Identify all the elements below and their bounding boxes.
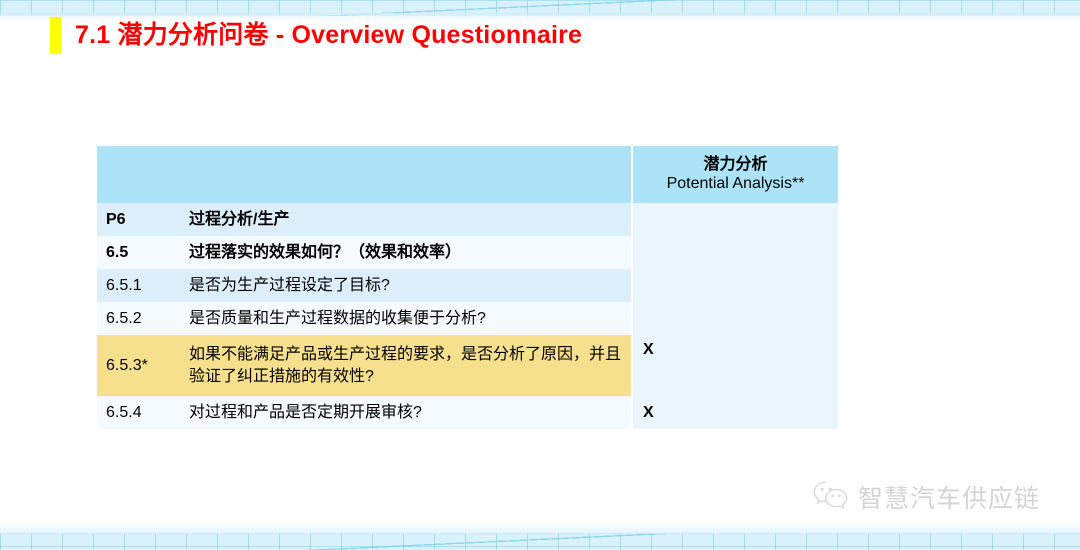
table-header: 潜力分析 Potential Analysis**: [97, 146, 838, 203]
row-potential-analysis: X: [632, 335, 838, 396]
table-row: 6.5.2 是否质量和生产过程数据的收集便于分析?: [97, 302, 838, 335]
header-text-blank: [180, 146, 632, 203]
row-question: 如果不能满足产品或生产过程的要求，是否分析了原因，并且验证了纠正措施的有效性?: [180, 335, 632, 396]
row-id: 6.5.4: [97, 396, 180, 429]
row-potential-analysis: [632, 203, 838, 236]
header-potential-analysis-cn: 潜力分析: [641, 156, 830, 174]
table-row: 6.5 过程落实的效果如何？（效果和效率）: [97, 236, 838, 269]
table-header-row: 潜力分析 Potential Analysis**: [97, 146, 838, 203]
header-id-blank: [97, 146, 180, 203]
top-grid-band: [0, 0, 1080, 16]
watermark-label: 智慧汽车供应链: [858, 486, 1040, 511]
table-row-highlighted: 6.5.3* 如果不能满足产品或生产过程的要求，是否分析了原因，并且验证了纠正措…: [97, 335, 838, 396]
table-row: P6 过程分析/生产: [97, 203, 838, 236]
row-potential-analysis: [632, 236, 838, 269]
header-potential-analysis-en: Potential Analysis**: [641, 174, 830, 193]
row-id: P6: [97, 203, 180, 236]
header-potential-analysis: 潜力分析 Potential Analysis**: [632, 146, 838, 203]
table-row: 6.5.4 对过程和产品是否定期开展审核? X: [97, 396, 838, 429]
table-body: P6 过程分析/生产 6.5 过程落实的效果如何？（效果和效率） 6.5.1 是…: [97, 203, 838, 429]
bottom-band-fade: [0, 522, 1080, 534]
row-question: 是否为生产过程设定了目标?: [180, 269, 632, 302]
row-id: 6.5.2: [97, 302, 180, 335]
bottom-grid-band: [0, 533, 1080, 550]
row-question: 过程落实的效果如何？（效果和效率）: [180, 236, 632, 269]
wechat-icon: [812, 480, 850, 516]
table-row: 6.5.1 是否为生产过程设定了目标?: [97, 269, 838, 302]
row-question: 是否质量和生产过程数据的收集便于分析?: [180, 302, 632, 335]
row-question: 对过程和产品是否定期开展审核?: [180, 396, 632, 429]
slide-title-row: 7.1 潜力分析问卷 - Overview Questionnaire: [50, 16, 582, 54]
row-potential-analysis: [632, 269, 838, 302]
row-id: 6.5.1: [97, 269, 180, 302]
questionnaire-table: 潜力分析 Potential Analysis** P6 过程分析/生产 6.5…: [97, 146, 838, 429]
row-id: 6.5: [97, 236, 180, 269]
page-title: 7.1 潜力分析问卷 - Overview Questionnaire: [75, 23, 582, 48]
watermark: 智慧汽车供应链: [812, 480, 1040, 516]
row-potential-analysis: [632, 302, 838, 335]
row-potential-analysis: X: [632, 396, 838, 429]
title-accent-bar: [50, 17, 61, 54]
row-question: 过程分析/生产: [180, 203, 632, 236]
row-id: 6.5.3*: [97, 335, 180, 396]
